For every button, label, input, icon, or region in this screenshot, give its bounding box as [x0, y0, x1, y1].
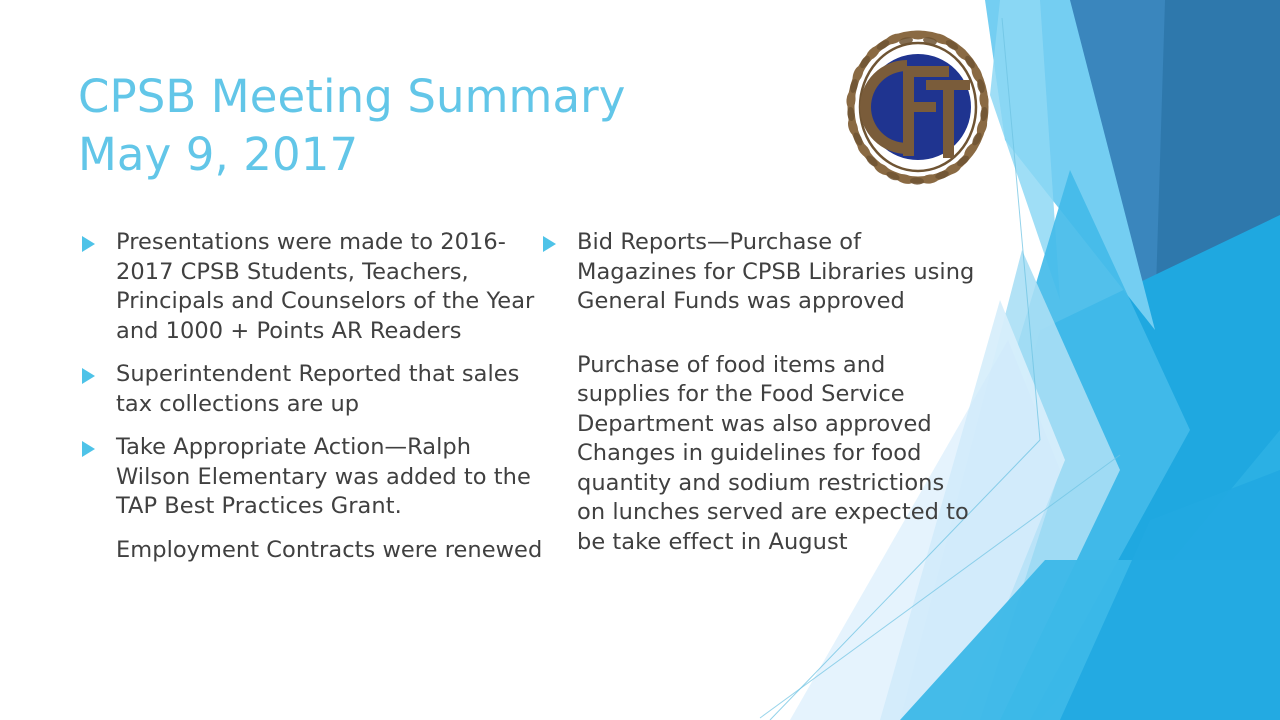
right-content-column: Bid Reports—Purchase of Magazines for CP… — [537, 228, 977, 567]
bg-shape-dark-right — [1140, 0, 1280, 330]
bg-shape-bright-cyan-lower — [1040, 430, 1280, 720]
list-item-text: Purchase of food items and supplies for … — [577, 351, 977, 558]
paragraph-spacer — [537, 331, 977, 351]
bg-shape-bottom-foot-2 — [1060, 470, 1280, 720]
bg-shape-bright-cyan-right — [930, 215, 1280, 720]
bullet-triangle-icon — [76, 360, 116, 384]
list-item: Take Appropriate Action—Ralph Wilson Ele… — [76, 433, 546, 522]
bg-shape-light-cyan-upper-2 — [990, 0, 1060, 300]
list-item: Employment Contracts were renewed — [76, 536, 546, 566]
list-item-text: Bid Reports—Purchase of Magazines for CP… — [577, 228, 977, 317]
bg-shape-light-cyan-upper — [985, 0, 1155, 330]
bg-hairline-upper — [1002, 18, 1040, 440]
bullet-placeholder — [76, 536, 116, 544]
list-item-text: Employment Contracts were renewed — [116, 536, 546, 566]
list-item-text: Presentations were made to 2016-2017 CPS… — [116, 228, 546, 346]
left-content-column: Presentations were made to 2016-2017 CPS… — [76, 228, 546, 575]
bullet-triangle-icon — [537, 228, 577, 252]
list-item: Purchase of food items and supplies for … — [537, 351, 977, 558]
presentation-slide: CPSB Meeting Summary May 9, 2017 — [0, 0, 1280, 720]
list-item: Presentations were made to 2016-2017 CPS… — [76, 228, 546, 346]
title-line-2: May 9, 2017 — [78, 126, 818, 184]
list-item: Bid Reports—Purchase of Magazines for CP… — [537, 228, 977, 317]
cft-emblem-logo — [845, 28, 991, 186]
title-line-1: CPSB Meeting Summary — [78, 68, 818, 126]
bullet-triangle-icon — [76, 433, 116, 457]
bullet-placeholder — [537, 351, 577, 359]
list-item-text: Take Appropriate Action—Ralph Wilson Ele… — [116, 433, 546, 522]
bg-shape-dark-right-2 — [1005, 0, 1165, 320]
bullet-triangle-icon — [76, 228, 116, 252]
list-item-text: Superintendent Reported that sales tax c… — [116, 360, 546, 419]
page-title: CPSB Meeting Summary May 9, 2017 — [78, 68, 818, 184]
list-item: Superintendent Reported that sales tax c… — [76, 360, 546, 419]
bg-shape-bottom-foot — [900, 560, 1280, 720]
